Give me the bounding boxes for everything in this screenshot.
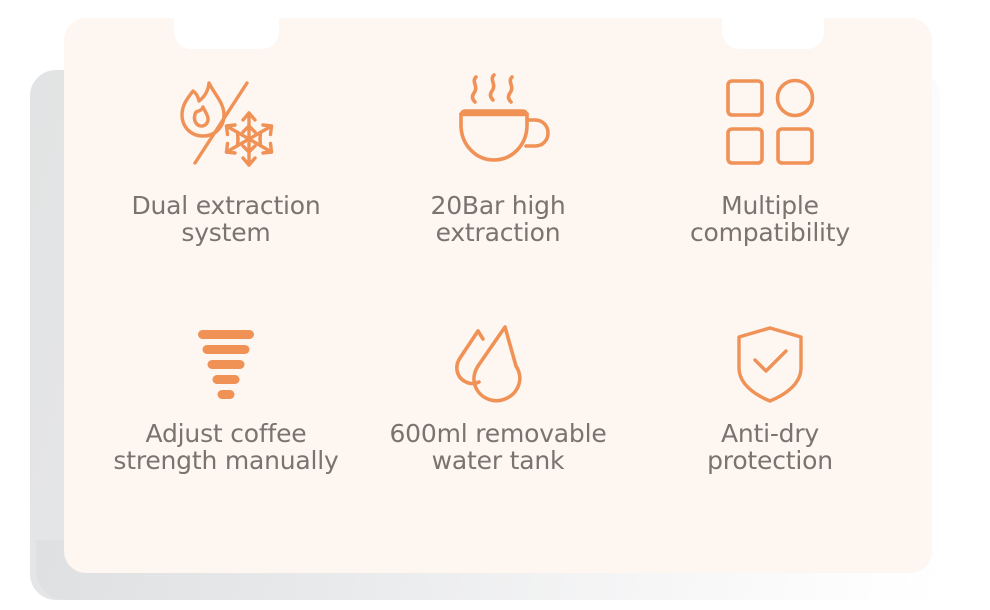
fire-and-snowflake-icon	[161, 64, 291, 182]
feature-card: Dual extraction system	[64, 18, 932, 573]
feature-label: Dual extraction system	[131, 192, 320, 246]
feature-label: 20Bar high extraction	[430, 192, 565, 246]
product-feature-panel: Dual extraction system	[0, 0, 990, 610]
feature-label: 600ml removable water tank	[389, 420, 606, 474]
feature-item-20bar-extraction: 20Bar high extraction	[362, 64, 634, 304]
feature-label: Multiple compatibility	[690, 192, 850, 246]
water-drops-icon	[450, 318, 546, 410]
feature-label: Adjust coffee strength manually	[113, 420, 338, 474]
coffee-cup-steam-icon	[443, 64, 553, 182]
feature-item-multiple-compatibility: Multiple compatibility	[634, 64, 906, 304]
feature-item-anti-dry-protection: Anti-dry protection	[634, 304, 906, 544]
feature-item-dual-extraction: Dual extraction system	[90, 64, 362, 304]
strength-bars-icon	[196, 318, 256, 410]
feature-grid: Dual extraction system	[64, 18, 932, 573]
feature-item-adjust-strength: Adjust coffee strength manually	[90, 304, 362, 544]
feature-item-water-tank: 600ml removable water tank	[362, 304, 634, 544]
shield-check-icon	[734, 318, 806, 410]
feature-label: Anti-dry protection	[707, 420, 833, 474]
multiple-shapes-grid-icon	[720, 64, 820, 182]
